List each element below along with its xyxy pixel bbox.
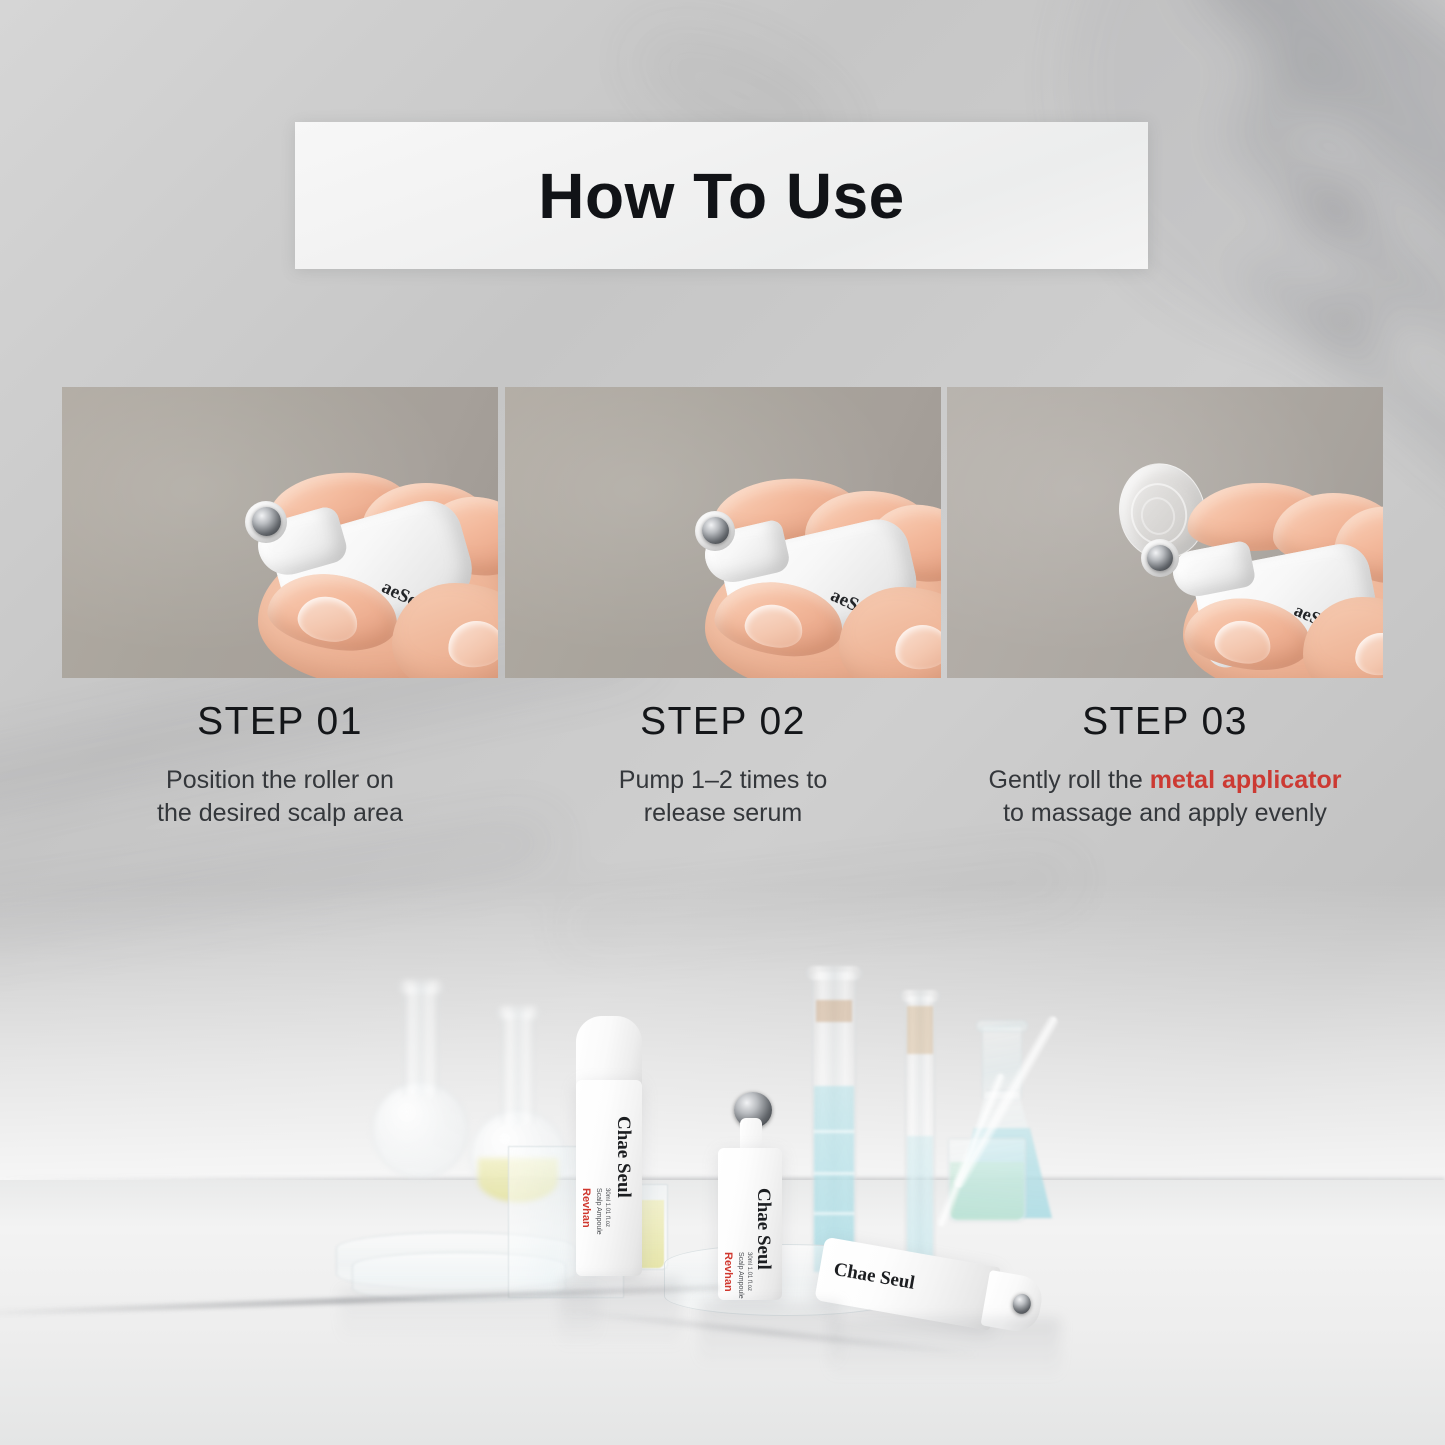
product-type-left: Scalp Ampoule bbox=[595, 1188, 602, 1235]
step-card-1: aeSeul STEP 01 Position the roller on th… bbox=[62, 387, 498, 830]
step-3-highlight: metal applicator bbox=[1150, 766, 1342, 794]
step-3-title: STEP 03 bbox=[947, 700, 1383, 744]
step-card-2: aeSeul STEP 02 Pump 1–2 times to release… bbox=[505, 387, 941, 830]
step-2-title: STEP 02 bbox=[505, 700, 941, 744]
product-volume-center: 30ml 1.01 fl.oz bbox=[746, 1252, 752, 1291]
product-volume-left: 30ml 1.01 fl.oz bbox=[604, 1188, 610, 1227]
how-to-use-page: How To Use bbox=[0, 0, 1445, 1445]
step-1-description: Position the roller on the desired scalp… bbox=[62, 764, 498, 830]
step-3-line-1-prefix: Gently roll the bbox=[989, 766, 1150, 794]
step-card-3: aeSeul STEP 03 Gently roll the metal app… bbox=[947, 387, 1383, 830]
step-2-photo: aeSeul bbox=[505, 387, 941, 678]
metal-roller-ball bbox=[1147, 545, 1173, 571]
product-type-center: Scalp Ampoule bbox=[737, 1252, 744, 1299]
step-1-line-1: Position the roller on bbox=[166, 766, 394, 794]
step-2-line-2: release serum bbox=[644, 799, 802, 827]
step-3-photo: aeSeul bbox=[947, 387, 1383, 678]
step-2-line-1: Pump 1–2 times to bbox=[619, 766, 827, 794]
step-1-line-2: the desired scalp area bbox=[157, 799, 403, 827]
step-1-title: STEP 01 bbox=[62, 700, 498, 744]
metal-roller-ball bbox=[252, 507, 281, 536]
title-banner: How To Use bbox=[295, 122, 1148, 269]
product-line-left: Revhan bbox=[580, 1188, 592, 1228]
metal-roller-ball bbox=[702, 517, 729, 544]
product-line-center: Revhan bbox=[722, 1252, 734, 1292]
page-title: How To Use bbox=[538, 159, 905, 233]
step-3-description: Gently roll the metal applicator to mass… bbox=[947, 764, 1383, 830]
step-2-description: Pump 1–2 times to release serum bbox=[505, 764, 941, 830]
step-3-line-2: to massage and apply evenly bbox=[1003, 799, 1327, 827]
product-brand-center: Chae Seul bbox=[752, 1188, 774, 1270]
product-hero-photo: Chae Seul Revhan Scalp Ampoule 30ml 1.01… bbox=[0, 900, 1445, 1445]
product-brand-left: Chae Seul bbox=[612, 1116, 634, 1198]
step-1-photo: aeSeul bbox=[62, 387, 498, 678]
